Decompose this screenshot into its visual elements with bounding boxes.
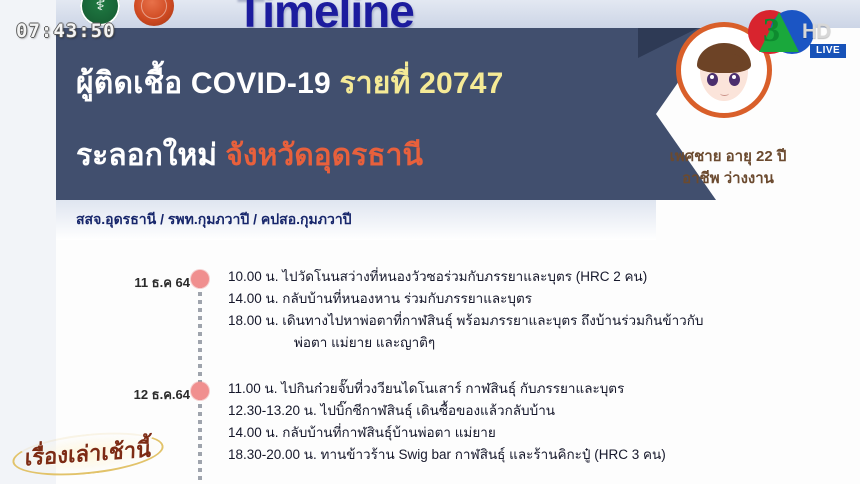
timeline-event: 10.00 น. ไปวัดโนนสว่างที่หนองวัวซอร่วมกั… — [228, 266, 848, 288]
patient-info: เพศชาย อายุ 22 ปี อาชีพ ว่างงาน — [608, 146, 848, 190]
province-label: จังหวัดอุดรธานี — [225, 139, 423, 172]
timeline-event: 18.00 น. เดินทางไปหาพ่อตาที่กาฬสินธุ์ พร… — [228, 310, 848, 332]
source-credit-bar: สสจ.อุดรธานี / รพท.กุมภวาปี / คปสอ.กุมภว… — [56, 200, 656, 240]
hd-badge: HD — [802, 20, 830, 44]
avatar-eye-right — [729, 73, 740, 86]
avatar-eye-left — [707, 73, 718, 86]
broadcast-clock: 07:43:50 — [16, 20, 116, 42]
watermark-text: เรื่องเล่าเช้านี้ — [18, 431, 159, 476]
program-watermark: เรื่องเล่าเช้านี้ — [8, 424, 166, 480]
avatar-mouth — [720, 91, 729, 96]
patient-sex-age: เพศชาย อายุ 22 ปี — [608, 146, 848, 168]
headline-line-1: ผู้ติดเชื้อ COVID-19 รายที่ 20747 — [76, 60, 504, 107]
male-avatar-icon — [694, 39, 754, 105]
channel-number: 3 — [763, 14, 780, 48]
headline-wave-label: ระลอกใหม่ — [76, 139, 217, 172]
timeline-event: 12.30-13.20 น. ไปบิ๊กซีกาฬสินธุ์ เดินซื้… — [228, 400, 848, 422]
timeline-event: 14.00 น. กลับบ้านที่หนองหาน ร่วมกับภรรยา… — [228, 288, 848, 310]
timeline-event: 11.00 น. ไปกินก๋วยจั๊บที่วงวียนไดโนเสาร์… — [228, 378, 848, 400]
headline-line-2: ระลอกใหม่ จังหวัดอุดรธานี — [76, 132, 423, 179]
broadcast-screen: Timeline 07:43:50 ผู้ติดเชื้อ COVID-19 ร… — [0, 0, 860, 484]
timeline-event: 18.30-20.00 น. ทานข้าวร้าน Swig bar กาฬส… — [228, 444, 848, 466]
timeline-dot — [191, 382, 209, 400]
timeline-axis — [198, 276, 202, 484]
timeline-events: 10.00 น. ไปวัดโนนสว่างที่หนองวัวซอร่วมกั… — [228, 266, 848, 354]
timeline-event-continuation: พ่อตา แม่ยาย และญาติๆ — [228, 332, 848, 354]
patient-occupation: อาชีพ ว่างงาน — [608, 168, 848, 190]
headline-disease-label: ผู้ติดเชื้อ COVID-19 — [76, 67, 331, 100]
timeline-event: 14.00 น. กลับบ้านที่กาฬสินธุ์บ้านพ่อตา แ… — [228, 422, 848, 444]
avatar-hair — [697, 43, 751, 73]
timeline-date-label: 11 ธ.ค 64 — [80, 272, 190, 293]
live-badge: LIVE — [810, 44, 846, 58]
timeline-date-label: 12 ธ.ค.64 — [80, 384, 190, 405]
source-credit-text: สสจ.อุดรธานี / รพท.กุมภวาปี / คปสอ.กุมภว… — [56, 209, 352, 231]
timeline-events: 11.00 น. ไปกินก๋วยจั๊บที่วงวียนไดโนเสาร์… — [228, 378, 848, 466]
udon-thani-seal-icon — [134, 0, 174, 26]
timeline-dot — [191, 270, 209, 288]
channel-logo: 3 HD LIVE — [748, 10, 856, 70]
case-number-label: รายที่ 20747 — [339, 67, 503, 100]
